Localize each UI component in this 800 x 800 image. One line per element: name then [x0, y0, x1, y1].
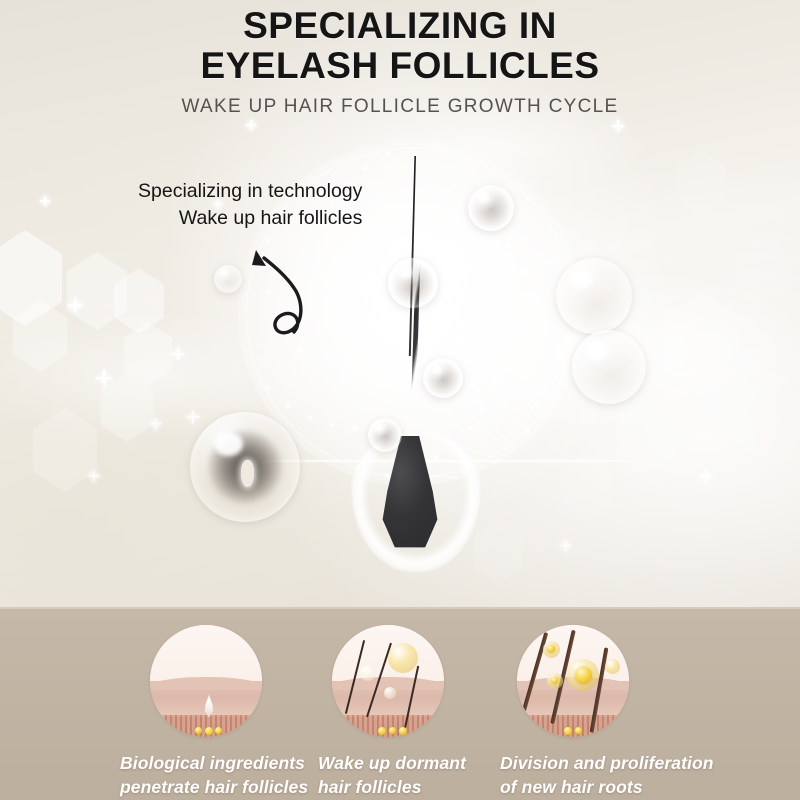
serum-bubble	[384, 687, 396, 699]
step-caption-1-line-2: penetrate hair follicles	[120, 775, 320, 799]
gold-sphere	[575, 667, 592, 684]
callout-line-1: Specializing in technology	[138, 178, 362, 205]
hexagon-shape	[120, 322, 176, 386]
hexagon-shape	[110, 268, 168, 334]
skin-surface-air	[150, 625, 262, 683]
step-illustration-3	[517, 625, 629, 737]
gold-particle	[205, 727, 213, 735]
pearl-sphere-right-lower	[572, 330, 646, 404]
sparkle-icon	[560, 540, 571, 551]
hexagon-shape	[470, 520, 526, 584]
pearl-sphere	[423, 358, 463, 398]
pearl-sphere-with-follicle-core	[190, 412, 300, 522]
serum-droplet	[605, 659, 620, 674]
page-title-line-2: EYELASH FOLLICLES	[0, 46, 800, 86]
hexagon-shape	[612, 398, 682, 478]
gold-particle	[378, 727, 386, 735]
hero-callout: Specializing in technology Wake up hair …	[138, 178, 362, 232]
sparkle-icon	[186, 410, 199, 423]
sparkle-icon	[700, 470, 712, 482]
hexagon-shape	[730, 236, 794, 308]
step-caption-1-line-1: Biological ingredients	[120, 751, 320, 775]
product-promo-image: Specializing in technology Wake up hair …	[0, 0, 800, 800]
callout-line-2: Wake up hair follicles	[138, 205, 362, 232]
steps-band: Biological ingredients penetrate hair fo…	[0, 607, 800, 800]
gold-particle	[564, 727, 572, 735]
sparkle-icon	[246, 120, 256, 130]
sparkle-icon	[68, 298, 82, 312]
sparkle-icon	[612, 120, 624, 132]
gold-particle	[215, 727, 222, 734]
hexagon-shape	[672, 150, 730, 216]
skin-villi-layer	[517, 715, 629, 737]
gold-sphere	[547, 645, 555, 653]
step-caption-3-line-1: Division and proliferation	[500, 751, 730, 775]
skin-villi-layer	[332, 715, 444, 737]
hexagon-shape	[656, 292, 748, 396]
hero-section: Specializing in technology Wake up hair …	[0, 0, 800, 607]
curly-arrow-icon	[220, 236, 340, 356]
step-caption-3-line-2: of new hair roots	[500, 775, 730, 799]
step-caption-3: Division and proliferation of new hair r…	[500, 751, 730, 799]
pearl-sphere	[368, 418, 402, 452]
page-subtitle: WAKE UP HAIR FOLLICLE GROWTH CYCLE	[0, 96, 800, 118]
serum-bubble	[360, 665, 376, 681]
serum-droplet-large	[388, 643, 418, 673]
hexagon-shape	[28, 408, 102, 492]
pearl-sphere	[388, 258, 438, 308]
pearl-sphere	[468, 185, 514, 231]
hexagon-shape	[62, 252, 132, 330]
step-caption-2-line-2: hair follicles	[318, 775, 503, 799]
sparkle-icon	[40, 196, 50, 206]
hexagon-shape	[8, 300, 72, 372]
hexagon-shape	[96, 372, 158, 442]
step-caption-1: Biological ingredients penetrate hair fo…	[120, 751, 320, 799]
pearl-sphere-large-right	[556, 258, 632, 334]
sphere-follicle-seed	[241, 460, 254, 486]
gold-particle	[195, 727, 202, 734]
step-caption-2-line-1: Wake up dormant	[318, 751, 503, 775]
step-caption-2: Wake up dormant hair follicles	[318, 751, 503, 799]
step-illustration-1	[150, 625, 262, 737]
header-titles: SPECIALIZING IN EYELASH FOLLICLES WAKE U…	[0, 0, 800, 118]
hexagon-shape	[0, 230, 68, 326]
sparkle-icon	[96, 370, 112, 386]
page-title-line-1: SPECIALIZING IN	[0, 0, 800, 46]
sparkle-icon	[172, 348, 184, 360]
band-top-edge	[0, 607, 800, 609]
sparkle-icon	[150, 418, 161, 429]
step-illustration-2	[332, 625, 444, 737]
gold-sphere	[551, 677, 558, 684]
sparkle-icon	[88, 470, 99, 481]
hexagon-shape	[700, 352, 782, 446]
